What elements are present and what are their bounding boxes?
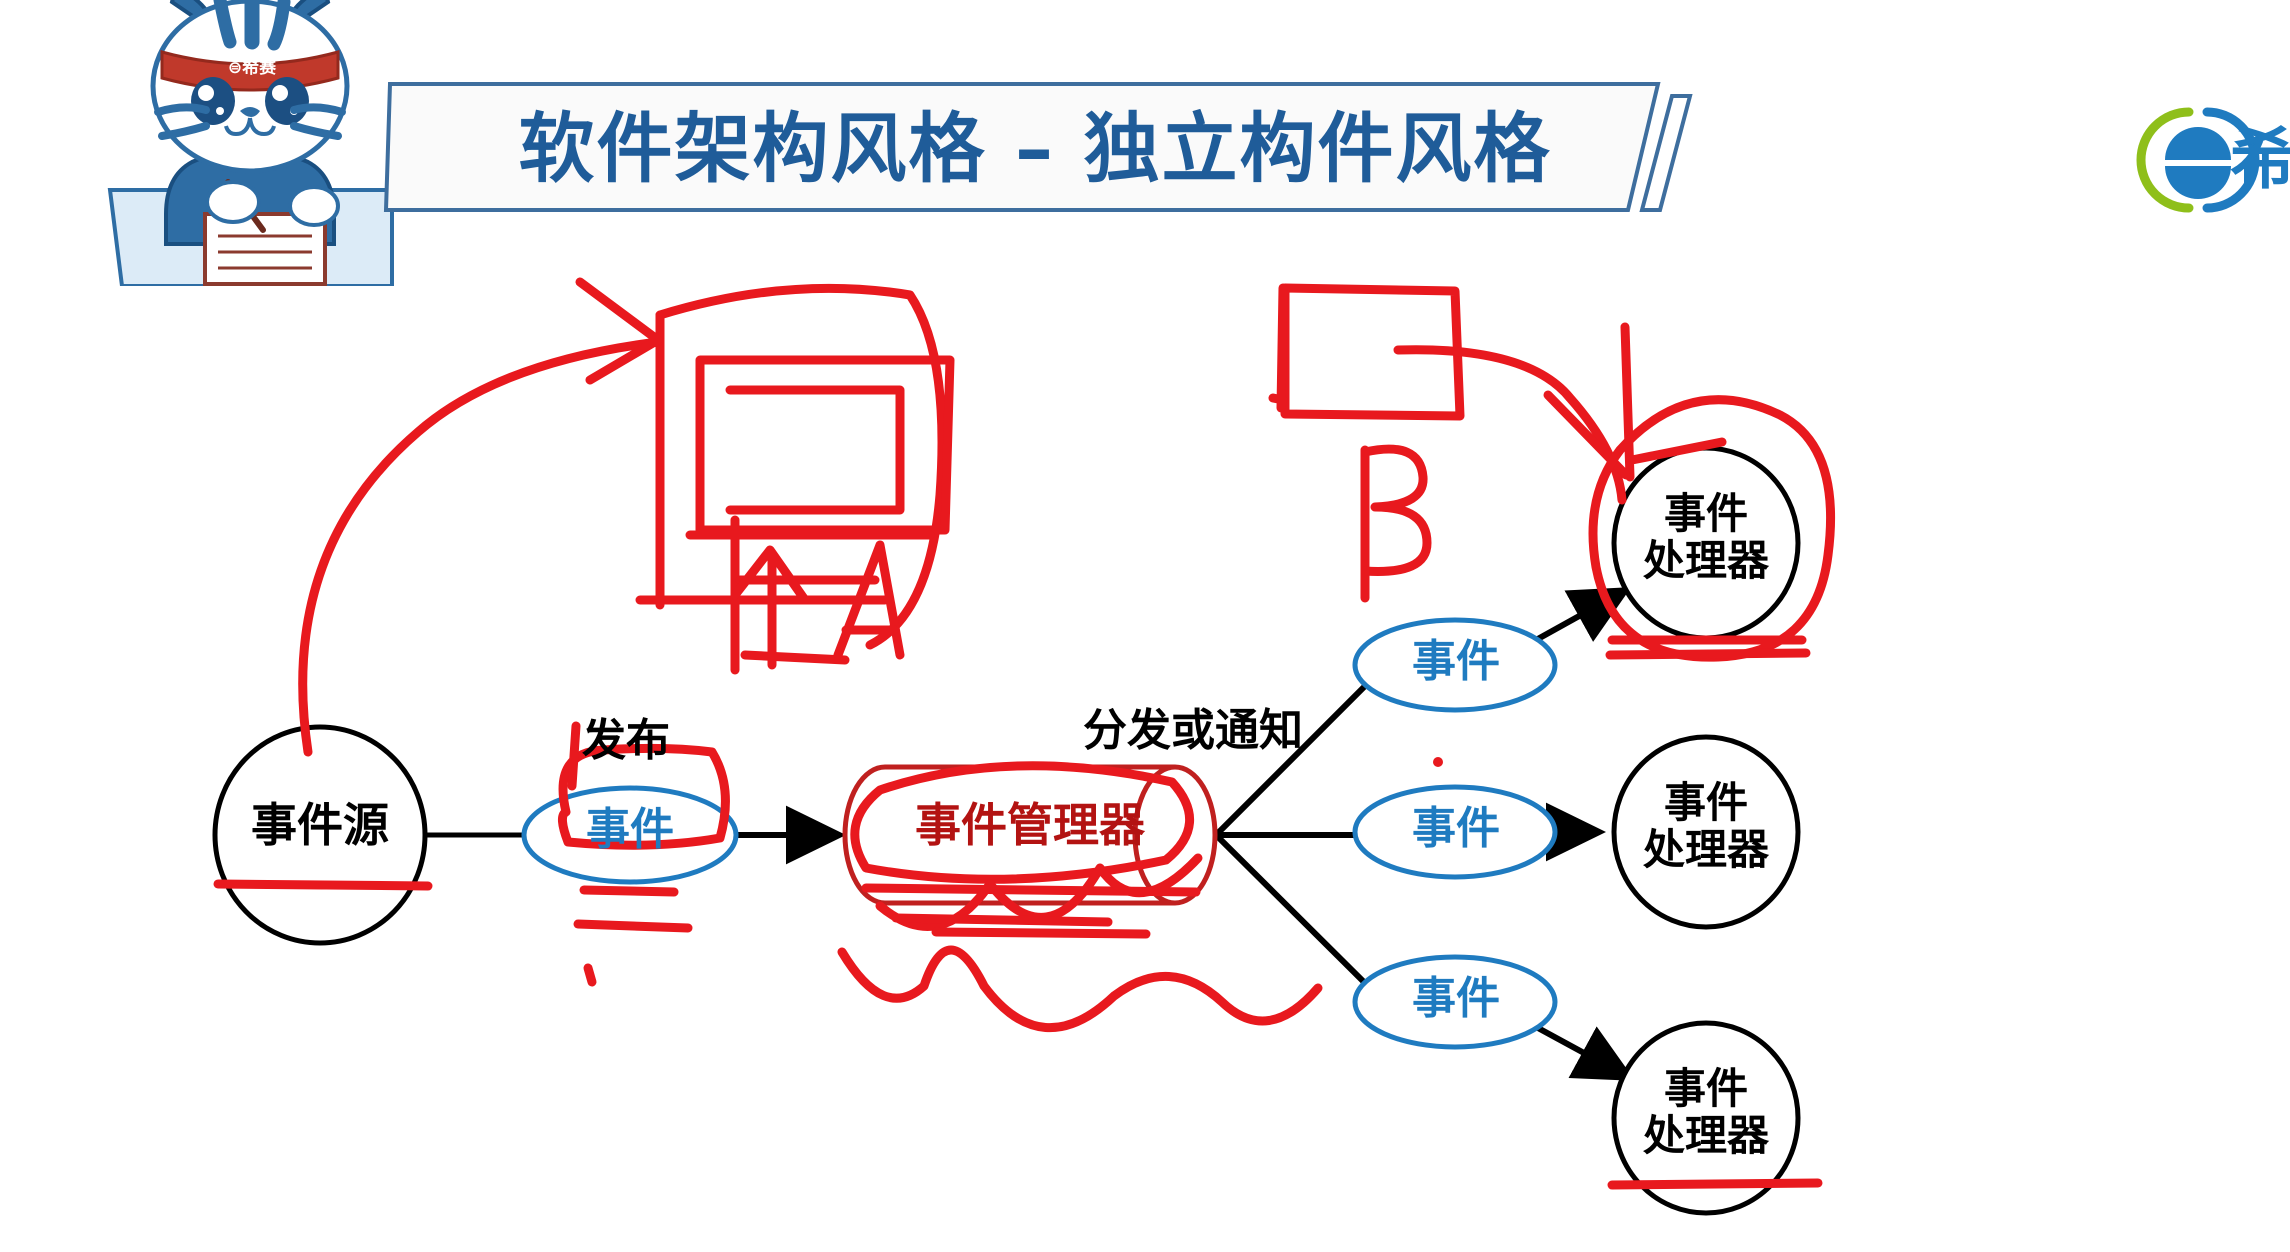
node-handler-2[interactable] [1614,737,1798,927]
node-event-1[interactable] [524,788,736,882]
node-event-4[interactable] [1355,957,1555,1047]
ink-line-1 [896,918,1108,922]
ink-tick-event1 [588,968,592,982]
ink-underline-handler3 [1612,1183,1818,1185]
node-handler-1[interactable] [1614,448,1798,638]
edge-label-publish: 发布 [582,704,670,768]
ink-squiggle [842,950,1318,1028]
node-event-2[interactable] [1355,620,1555,710]
node-event-source[interactable] [215,727,425,943]
ink-arrow-source-to-a [303,282,658,752]
edge-label-notify: 分发或通知 [1083,694,1303,758]
ink-annotation-layer [218,282,1831,1185]
ink-dot [1433,757,1443,767]
event-architecture-diagram: 事件源 事件 事件管理器 事件 事件 事件 事件 处理器 事件 处理器 事件 处… [0,0,2290,1247]
ink-label-b [1365,449,1427,598]
ink-underline-source [218,884,428,886]
ink-line-2 [936,932,1146,934]
node-event-3[interactable] [1355,787,1555,877]
slide-canvas: ⊜希赛 软件架构风格 – 独立构件风格 [0,0,2290,1247]
ink-box-a [640,288,950,670]
